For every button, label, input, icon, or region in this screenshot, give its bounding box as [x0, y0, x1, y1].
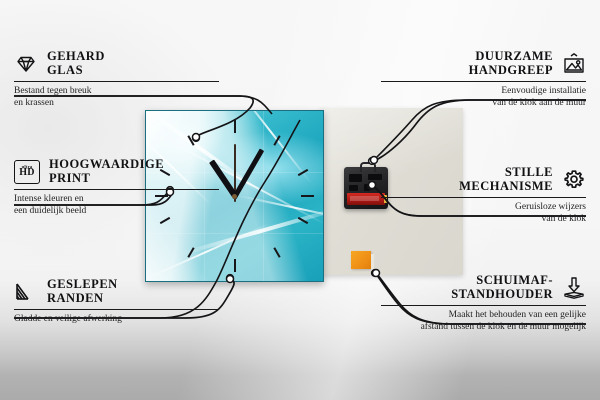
- divider: [14, 189, 219, 190]
- feature-title-2: MECHANISME: [459, 180, 553, 194]
- tick-6: [234, 259, 236, 272]
- feature-title: DUURZAME: [469, 50, 553, 64]
- feature-title: GESLEPEN: [47, 278, 118, 292]
- feature-geslepen-randen: GESLEPEN RANDEN Gladde en veilige afwerk…: [14, 278, 219, 326]
- feature-desc-line2: van de klok: [381, 214, 586, 226]
- feature-title: HOOGWAARDIGE: [49, 158, 164, 172]
- divider: [381, 305, 586, 306]
- feature-title: STILLE: [459, 166, 553, 180]
- feature-desc-line2: een duidelijk beeld: [14, 206, 219, 218]
- picture-frame-icon: [562, 52, 586, 76]
- feature-desc-line1: Bestand tegen breuk: [14, 86, 219, 98]
- feature-title: GEHARD: [47, 50, 105, 64]
- feature-title-2: GLAS: [47, 64, 105, 78]
- foam-spacer-pad: [351, 251, 371, 269]
- tick-3: [301, 195, 314, 197]
- feature-gehard-glas: GEHARD GLAS Bestand tegen breuk en krass…: [14, 50, 219, 109]
- feature-schuimafstandhouder: SCHUIMAF- STANDHOUDER Maakt het behouden…: [381, 274, 586, 333]
- feature-title-2: RANDEN: [47, 292, 118, 306]
- feature-duurzame-handgreep: DUURZAME HANDGREEP Eenvoudige installati…: [381, 50, 586, 109]
- feature-title-2: HANDGREEP: [469, 64, 553, 78]
- feature-desc-line2: en krassen: [14, 98, 219, 110]
- feature-hoogwaardige-print: ultra HD HOOGWAARDIGE PRINT Intense kleu…: [14, 158, 219, 217]
- divider: [14, 81, 219, 82]
- feature-stille-mechanisme: STILLE MECHANISME Geruisloze wijzers van…: [381, 166, 586, 225]
- ultra-hd-large-text: HD: [19, 168, 35, 178]
- divider: [14, 309, 219, 310]
- divider: [381, 81, 586, 82]
- feature-desc-line1: Intense kleuren en: [14, 194, 219, 206]
- feature-desc-line1: Gladde en veilige afwerking: [14, 314, 219, 326]
- clock-battery: [347, 193, 385, 205]
- feature-title: SCHUIMAF-: [451, 274, 553, 288]
- feature-desc-line2: afstand tussen de klok en de muur mogeli…: [381, 322, 586, 334]
- diamond-icon: [14, 52, 38, 76]
- movement-hanger: [360, 162, 376, 172]
- feature-desc-line1: Maakt het behouden van een gelijke: [381, 310, 586, 322]
- infographic-canvas: GEHARD GLAS Bestand tegen breuk en krass…: [0, 0, 600, 400]
- tick-12: [234, 120, 236, 133]
- feature-title-2: STANDHOUDER: [451, 288, 553, 302]
- gear-icon: [562, 168, 586, 192]
- feature-title-2: PRINT: [49, 172, 164, 186]
- beveled-edges-icon: [14, 280, 38, 304]
- feature-desc-line2: van de klok aan de muur: [381, 98, 586, 110]
- clock-hub: [232, 194, 237, 199]
- ultra-hd-icon: ultra HD: [14, 160, 40, 184]
- feature-desc-line1: Eenvoudige installatie: [381, 86, 586, 98]
- divider: [381, 197, 586, 198]
- feature-desc-line1: Geruisloze wijzers: [381, 202, 586, 214]
- press-down-arrow-icon: [562, 276, 586, 300]
